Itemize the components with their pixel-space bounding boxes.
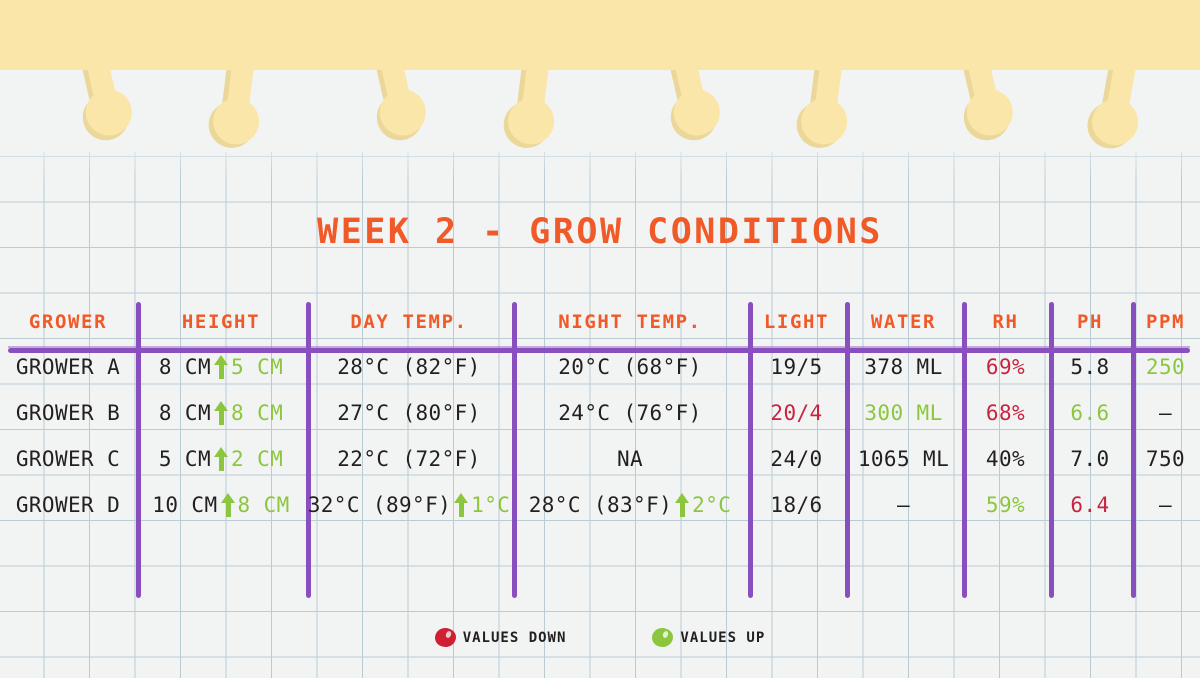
table-row: GROWER A8 CM5 CM28°C (82°F)20°C (68°F)19…: [0, 344, 1200, 390]
column-header-rh: RH: [962, 300, 1049, 344]
cell-ph: 7.0: [1049, 436, 1131, 482]
cell-height-delta: 8 CM: [231, 401, 283, 425]
cell-rh: 40%: [962, 436, 1049, 482]
column-header-day-temp: DAY TEMP.: [306, 300, 512, 344]
cell-ppm: –: [1131, 482, 1200, 528]
cell-water: 1065 ML: [845, 436, 962, 482]
cell-day-temp: 28°C (82°F): [306, 344, 512, 390]
cell-height-delta: 2 CM: [231, 447, 283, 471]
up-arrow-icon: [214, 401, 229, 425]
cell-ph: 6.4: [1049, 482, 1131, 528]
cell-night-temp: 20°C (68°F): [512, 344, 748, 390]
cell-ppm-value: –: [1159, 401, 1172, 425]
cell-night-temp-value: 28°C (83°F): [529, 493, 672, 517]
cell-water-value: 378 ML: [864, 355, 942, 379]
cell-ph: 6.6: [1049, 390, 1131, 436]
up-arrow-icon: [221, 493, 236, 517]
green-dot-icon: [652, 628, 673, 647]
up-arrow-icon: [675, 493, 690, 517]
cell-day-temp: 27°C (80°F): [306, 390, 512, 436]
cell-rh: 68%: [962, 390, 1049, 436]
cell-rh-value: 69%: [986, 355, 1025, 379]
cell-light: 18/6: [748, 482, 845, 528]
column-header-grower: GROWER: [0, 300, 136, 344]
cell-ppm-value: 250: [1146, 355, 1185, 379]
cell-height: 10 CM8 CM: [136, 482, 306, 528]
cell-height: 8 CM8 CM: [136, 390, 306, 436]
cell-day-temp-value: 27°C (80°F): [337, 401, 480, 425]
up-arrow-icon: [454, 493, 469, 517]
cell-light: 20/4: [748, 390, 845, 436]
legend-label: VALUES DOWN: [463, 630, 567, 646]
cell-light: 19/5: [748, 344, 845, 390]
column-header-ph: PH: [1049, 300, 1131, 344]
up-arrow-icon: [214, 355, 229, 379]
red-dot-icon: [435, 628, 456, 647]
column-header-night-temp: NIGHT TEMP.: [512, 300, 748, 344]
cell-light-value: 24/0: [770, 447, 822, 471]
table-row: GROWER D10 CM8 CM32°C (89°F)1°C28°C (83°…: [0, 482, 1200, 528]
cell-light-value: 20/4: [770, 401, 822, 425]
cell-rh: 69%: [962, 344, 1049, 390]
cell-night-temp-delta: 2°C: [692, 493, 731, 517]
cell-rh-value: 68%: [986, 401, 1025, 425]
table-row: GROWER B8 CM8 CM27°C (80°F)24°C (76°F)20…: [0, 390, 1200, 436]
cell-night-temp-value: NA: [617, 447, 643, 471]
table-header-row: GROWER HEIGHT DAY TEMP. NIGHT TEMP. LIGH…: [0, 300, 1200, 344]
cell-ph-value: 7.0: [1070, 447, 1109, 471]
cell-ppm-value: 750: [1146, 447, 1185, 471]
grow-conditions-table-wrap: GROWER HEIGHT DAY TEMP. NIGHT TEMP. LIGH…: [0, 300, 1200, 528]
cell-water-value: –: [897, 493, 910, 517]
cell-light-value: 19/5: [770, 355, 822, 379]
cell-rh-value: 59%: [986, 493, 1025, 517]
cell-height-delta: 5 CM: [231, 355, 283, 379]
cell-grower: GROWER D: [0, 482, 136, 528]
table-body: GROWER A8 CM5 CM28°C (82°F)20°C (68°F)19…: [0, 344, 1200, 528]
cell-light-value: 18/6: [770, 493, 822, 517]
cell-day-temp-value: 32°C (89°F): [308, 493, 451, 517]
legend: VALUES DOWNVALUES UP: [0, 628, 1200, 647]
legend-item: VALUES DOWN: [435, 628, 567, 647]
column-header-light: LIGHT: [748, 300, 845, 344]
column-header-ppm: PPM: [1131, 300, 1200, 344]
cell-water: 300 ML: [845, 390, 962, 436]
column-header-water: WATER: [845, 300, 962, 344]
legend-item: VALUES UP: [652, 628, 765, 647]
cell-grower: GROWER A: [0, 344, 136, 390]
cell-ph: 5.8: [1049, 344, 1131, 390]
cell-night-temp: 24°C (76°F): [512, 390, 748, 436]
cell-height: 8 CM5 CM: [136, 344, 306, 390]
cell-ppm: 250: [1131, 344, 1200, 390]
cell-night-temp-value: 20°C (68°F): [558, 355, 701, 379]
cell-height-delta: 8 CM: [238, 493, 290, 517]
cell-ppm: 750: [1131, 436, 1200, 482]
cell-water-value: 300 ML: [864, 401, 942, 425]
cell-water: 378 ML: [845, 344, 962, 390]
cell-rh-value: 40%: [986, 447, 1025, 471]
cell-day-temp: 32°C (89°F)1°C: [306, 482, 512, 528]
page-title: WEEK 2 - GROW CONDITIONS: [0, 212, 1200, 252]
cell-ph-value: 6.6: [1070, 401, 1109, 425]
cell-light: 24/0: [748, 436, 845, 482]
cell-water: –: [845, 482, 962, 528]
cell-height: 5 CM2 CM: [136, 436, 306, 482]
cell-day-temp-value: 22°C (72°F): [337, 447, 480, 471]
cell-grower: GROWER C: [0, 436, 136, 482]
cell-height-base: 10 CM: [152, 493, 217, 517]
cell-ph-value: 5.8: [1070, 355, 1109, 379]
cell-height-base: 8 CM: [159, 355, 211, 379]
legend-label: VALUES UP: [680, 630, 765, 646]
cell-rh: 59%: [962, 482, 1049, 528]
cell-ph-value: 6.4: [1070, 493, 1109, 517]
table-row: GROWER C5 CM2 CM22°C (72°F)NA24/01065 ML…: [0, 436, 1200, 482]
cell-ppm-value: –: [1159, 493, 1172, 517]
cell-night-temp: NA: [512, 436, 748, 482]
cell-ppm: –: [1131, 390, 1200, 436]
cell-grower: GROWER B: [0, 390, 136, 436]
notebook-binding-strip: [0, 0, 1200, 70]
cell-day-temp-delta: 1°C: [471, 493, 510, 517]
grow-conditions-table: GROWER HEIGHT DAY TEMP. NIGHT TEMP. LIGH…: [0, 300, 1200, 528]
cell-night-temp-value: 24°C (76°F): [558, 401, 701, 425]
cell-day-temp: 22°C (72°F): [306, 436, 512, 482]
cell-height-base: 5 CM: [159, 447, 211, 471]
cell-night-temp: 28°C (83°F)2°C: [512, 482, 748, 528]
cell-day-temp-value: 28°C (82°F): [337, 355, 480, 379]
column-header-height: HEIGHT: [136, 300, 306, 344]
cell-height-base: 8 CM: [159, 401, 211, 425]
notebook-page: WEEK 2 - GROW CONDITIONS GROWER: [0, 0, 1200, 678]
cell-water-value: 1065 ML: [858, 447, 949, 471]
up-arrow-icon: [214, 447, 229, 471]
